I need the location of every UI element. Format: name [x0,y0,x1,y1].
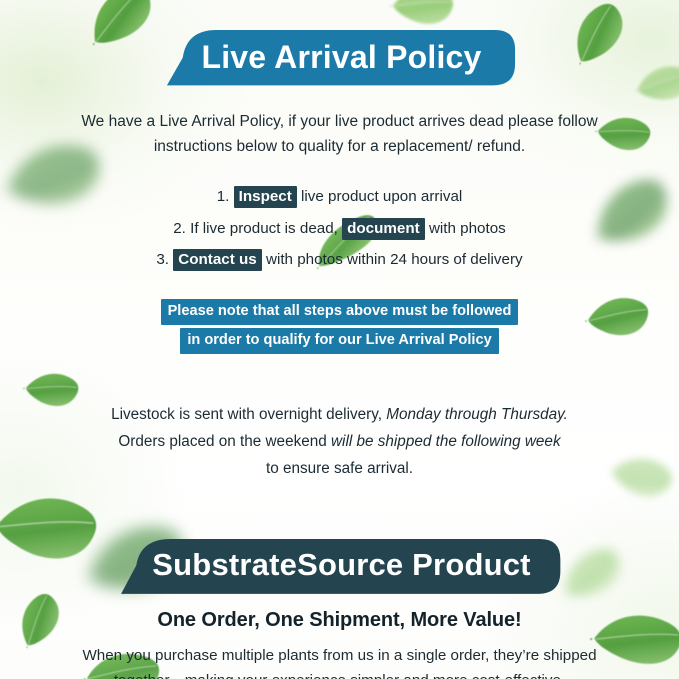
policy-note-line-2: in order to qualify for our Live Arrival… [180,328,498,354]
step-text-before-2: If live product is dead, [190,220,338,237]
intro-line-2: instructions below to quality for a repl… [70,134,610,159]
list-item: 3. Contact us with photos within 24 hour… [105,244,575,275]
shipping-line-3: to ensure safe arrival. [90,455,590,482]
value-body-paragraph: When you purchase multiple plants from u… [70,643,610,679]
step-highlight-inspect: Inspect [234,186,297,208]
step-number-2: 2. [173,220,186,237]
step-number-1: 1. [217,188,230,205]
substratesource-banner-wrap: SubstrateSource Product [0,537,679,593]
shipping-line-1-italic: Monday through Thursday. [386,406,568,423]
step-number-3: 3. [156,251,169,268]
shipping-line-2-plain: Orders placed on the weekend [118,433,326,450]
shipping-schedule-paragraph: Livestock is sent with overnight deliver… [90,401,590,483]
step-highlight-contact-us: Contact us [173,249,261,271]
live-arrival-banner-wrap: Live Arrival Policy [0,0,679,87]
substratesource-product-banner-label: SubstrateSource Product [152,549,530,580]
value-body-line-1: When you purchase multiple plants from u… [70,643,610,668]
live-arrival-policy-banner-label: Live Arrival Policy [201,41,481,73]
list-item: 1. Inspect live product upon arrival [105,181,575,212]
intro-line-1: We have a Live Arrival Policy, if your l… [70,109,610,134]
poster-content: Live Arrival Policy We have a Live Arriv… [0,0,679,679]
shipping-line-1-plain: Livestock is sent with overnight deliver… [111,406,382,423]
live-arrival-policy-banner: Live Arrival Policy [161,28,517,87]
step-text-after-1: live product upon arrival [301,188,462,205]
value-headline: One Order, One Shipment, More Value! [0,609,679,632]
step-text-after-2: with photos [429,220,506,237]
intro-paragraph: We have a Live Arrival Policy, if your l… [70,109,610,159]
section-spacer [0,482,679,537]
shipping-line-2: Orders placed on the weekend will be shi… [90,428,590,455]
step-highlight-document: document [342,218,425,240]
policy-note-block: Please note that all steps above must be… [105,299,575,356]
step-text-after-3: with photos within 24 hours of delivery [266,251,523,268]
policy-steps-list: 1. Inspect live product upon arrival 2. … [105,181,575,275]
value-body-line-2: together—making your experience simpler … [70,668,610,679]
poster-root: Live Arrival Policy We have a Live Arriv… [0,0,679,679]
shipping-line-1: Livestock is sent with overnight deliver… [90,401,590,428]
list-item: 2. If live product is dead, document wit… [105,213,575,244]
substratesource-product-banner: SubstrateSource Product [116,537,562,593]
shipping-line-2-italic: will be shipped the following week [331,433,561,450]
policy-note-line-1: Please note that all steps above must be… [161,299,519,325]
